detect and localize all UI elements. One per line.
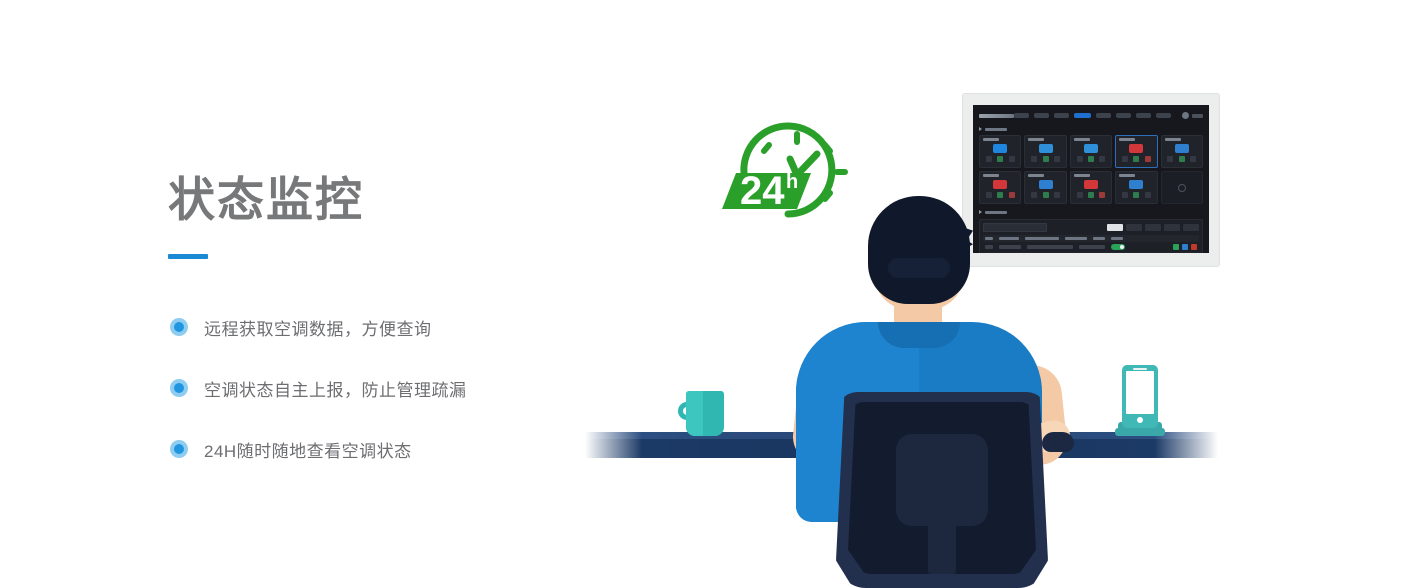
feature-list: 远程获取空调数据，方便查询 空调状态自主上报，防止管理疏漏 24H随时随地查看空… xyxy=(170,316,730,499)
computer-mouse xyxy=(1042,432,1074,452)
nav-item[interactable] xyxy=(1054,113,1069,118)
person-illustration xyxy=(760,196,1090,536)
app-logo xyxy=(979,114,1014,118)
toolbar-button[interactable] xyxy=(1164,224,1180,231)
device-card[interactable] xyxy=(979,135,1021,168)
nav-item-active[interactable] xyxy=(1074,113,1091,118)
list-item: 远程获取空调数据，方便查询 xyxy=(170,316,730,338)
dashboard-header xyxy=(979,110,1203,121)
toolbar-button[interactable] xyxy=(1145,224,1161,231)
phone-speaker xyxy=(1133,368,1147,370)
phone-body xyxy=(1122,365,1158,428)
nav-item[interactable] xyxy=(1136,113,1151,118)
phone-screen xyxy=(1126,371,1154,414)
status-toggle[interactable] xyxy=(1111,244,1125,250)
copy-block: 状态监控 xyxy=(168,175,588,259)
clock-badge-unit: h xyxy=(786,171,798,193)
bullet-dot-icon xyxy=(170,379,188,397)
bullet-dot-icon xyxy=(170,318,188,336)
list-item-label: 空调状态自主上报，防止管理疏漏 xyxy=(204,376,467,401)
hair-shadow xyxy=(888,258,950,278)
hero-banner: 状态监控 远程获取空调数据，方便查询 空调状态自主上报，防止管理疏漏 24H随时… xyxy=(0,0,1401,584)
chevron-right-icon xyxy=(979,127,982,131)
smartphone-on-dock xyxy=(1118,365,1162,437)
nav-item[interactable] xyxy=(1156,113,1171,118)
list-item: 空调状态自主上报，防止管理疏漏 xyxy=(170,377,730,399)
device-card[interactable] xyxy=(1115,171,1157,204)
coffee-mug xyxy=(678,391,726,436)
add-device-card[interactable] xyxy=(1161,171,1203,204)
phone-home-button xyxy=(1137,417,1143,423)
mug-body xyxy=(686,391,724,436)
nav-item[interactable] xyxy=(1096,113,1111,118)
device-card-grid xyxy=(979,135,1203,204)
table-action-buttons xyxy=(1107,224,1199,231)
section-title xyxy=(985,128,1007,131)
device-card[interactable] xyxy=(1024,135,1066,168)
device-card[interactable] xyxy=(1070,135,1112,168)
device-card[interactable] xyxy=(1161,135,1203,168)
page-title: 状态监控 xyxy=(168,175,588,224)
user-avatar[interactable] xyxy=(1182,112,1203,119)
dashboard-nav xyxy=(1014,112,1203,119)
list-item-label: 24H随时随地查看空调状态 xyxy=(204,437,412,462)
toolbar-button[interactable] xyxy=(1183,224,1199,231)
hair xyxy=(868,196,970,304)
shirt-collar xyxy=(878,322,960,348)
primary-button[interactable] xyxy=(1107,224,1123,231)
toolbar-button[interactable] xyxy=(1126,224,1142,231)
nav-item[interactable] xyxy=(1116,113,1131,118)
title-underline-rule xyxy=(168,254,208,259)
section-header-devices[interactable] xyxy=(979,127,1203,131)
device-card-selected[interactable] xyxy=(1115,135,1157,168)
nav-item[interactable] xyxy=(1014,113,1029,118)
bullet-dot-icon xyxy=(170,440,188,458)
list-item-label: 远程获取空调数据，方便查询 xyxy=(204,315,432,340)
row-actions xyxy=(1173,244,1197,250)
office-chair-stem xyxy=(928,512,956,574)
nav-item[interactable] xyxy=(1034,113,1049,118)
